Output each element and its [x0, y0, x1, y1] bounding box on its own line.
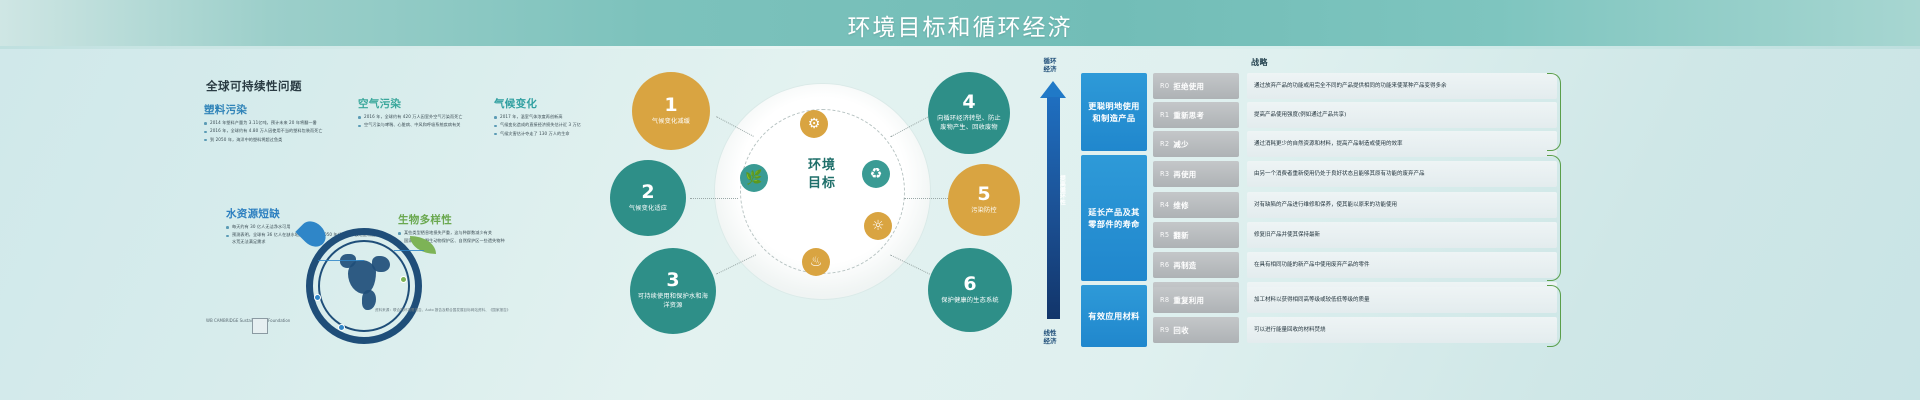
strategy-description: 由另一个消费者重新使用仍处于良好状态且能够其原有功能的废弃产品 — [1247, 161, 1557, 187]
list-item: 气候变化造成的直接经济损失估计近 3 万亿 — [494, 122, 614, 129]
issue-list-air: 2016 年，全球约有 420 万人因室外空气污染而死亡 空气污染与哮喘、心脏病… — [358, 114, 508, 129]
bubble-caption: 可持续使用和保护水和海洋资源 — [630, 293, 716, 311]
bubble-caption: 气候变化适应 — [623, 205, 673, 214]
objective-bubble-4[interactable]: 4 向循环经济转型、防止废物产生、回收废物 — [928, 72, 1010, 154]
left-panel-sustainability-issues: 全球可持续性问题 塑料污染 2014 年塑料产量为 3.11亿吨，预计未来 20… — [190, 60, 590, 350]
strategy-code-cell: R9 回收 — [1153, 317, 1239, 343]
bubble-caption: 向循环经济转型、防止废物产生、回收废物 — [928, 115, 1010, 133]
issue-block-plastic: 塑料污染 2014 年塑料产量为 3.11亿吨，预计未来 20 年将翻一番 20… — [204, 102, 354, 145]
header-divider — [0, 46, 1920, 49]
bubble-number: 1 — [664, 96, 677, 115]
strategy-description: 提高产品使用强度(例如通过产品共享) — [1247, 102, 1557, 128]
axis-label-linear-economy: 线性 经济 — [1035, 329, 1065, 345]
list-item: 2014 年塑料产量为 3.11亿吨，预计未来 20 年将翻一番 — [204, 120, 354, 127]
continent-shape — [372, 256, 390, 272]
sun-icon: ☼ — [864, 212, 892, 240]
strategy-code-cell: R4 维修 — [1153, 192, 1239, 218]
strategy-code-cell: R1 重新思考 — [1153, 102, 1239, 128]
strategy-code-cell: R6 再制造 — [1153, 252, 1239, 278]
objective-bubble-1[interactable]: 1 气候变化减缓 — [632, 72, 710, 150]
strategy-name: 拒绝使用 — [1173, 81, 1204, 92]
group-brace — [1547, 73, 1561, 151]
strategy-description: 可以进行能量回收的材料焚烧 — [1247, 317, 1557, 343]
strategy-name: 回收 — [1173, 325, 1188, 336]
right-panel-circularity-strategies: 循环 经济 提高循环性 线性 经济 战略 更聪明地使用和制造产品 延长产品及其零… — [1035, 55, 1915, 355]
list-item: 2016 年，全球约有 4.80 万人因使用不当的塑料包装而死亡 — [204, 128, 354, 135]
strategy-id: R0 — [1160, 82, 1169, 90]
left-panel-title: 全球可持续性问题 — [206, 78, 302, 94]
node-dot — [338, 324, 345, 331]
bubble-number: 4 — [962, 93, 975, 112]
issue-heading-air: 空气污染 — [358, 96, 508, 111]
water-icon: ♨ — [802, 248, 830, 276]
axis-top-line-2: 经济 — [1035, 65, 1065, 73]
strategy-name: 维修 — [1173, 200, 1188, 211]
strategy-description: 加工材料以获得相同高等级或较低低等级的质量 — [1247, 287, 1557, 313]
strategy-name: 减少 — [1173, 139, 1188, 150]
node-dot — [314, 294, 321, 301]
bubble-caption: 污染防控 — [965, 207, 1003, 216]
bubble-number: 5 — [977, 185, 990, 204]
issue-block-climate: 气候变化 2017 年，温室气体浓度再创新高 气候变化造成的直接经济损失估计近 … — [494, 96, 614, 139]
strategy-id: R6 — [1160, 261, 1169, 269]
connector-line — [394, 250, 424, 251]
strategy-id: R5 — [1160, 231, 1169, 239]
strategy-group-useful-application: 有效应用材料 — [1081, 285, 1147, 347]
center-environmental-objectives-diagram: 环境 目标 ⚙ 🌿 ♻ ☼ ♨ 1 气候变化减缓 2 气候变化适应 3 可持续使… — [610, 52, 1030, 352]
organization-logo-text: WB CAMBRIDGE Sustainability Foundation — [206, 318, 290, 324]
bubble-caption: 保护健康的生态系统 — [935, 297, 1005, 306]
column-header-strategy: 战略 — [1251, 57, 1268, 68]
issue-list-climate: 2017 年，温室气体浓度再创新高 气候变化造成的直接经济损失估计近 3 万亿 … — [494, 114, 614, 137]
strategy-group-smarter-use: 更聪明地使用和制造产品 — [1081, 73, 1147, 151]
strategy-id: R2 — [1160, 140, 1169, 148]
list-item: 2017 年，温室气体浓度再创新高 — [494, 114, 614, 121]
strategy-description: 在具有相同功能的新产品中使用废弃产品的零件 — [1247, 252, 1557, 278]
issue-heading-plastic: 塑料污染 — [204, 102, 354, 117]
page-title: 环境目标和循环经济 — [0, 8, 1920, 42]
list-item: 2016 年，全球约有 420 万人因室外空气污染而死亡 — [358, 114, 508, 121]
strategy-code-cell: R5 翻新 — [1153, 222, 1239, 248]
issue-block-air: 空气污染 2016 年，全球约有 420 万人因室外空气污染而死亡 空气污染与哮… — [358, 96, 508, 131]
axis-label-increasing-circularity: 提高循环性 — [1043, 175, 1065, 206]
list-item: 空气污染与哮喘、心脏病、中风和呼吸系统疾病有关 — [358, 122, 508, 129]
strategy-code-cell: R0 拒绝使用 — [1153, 73, 1239, 99]
group-brace — [1547, 285, 1561, 347]
strategy-name: 重复利用 — [1173, 295, 1204, 306]
connector-dotline — [904, 198, 950, 199]
bubble-caption: 气候变化减缓 — [646, 118, 696, 127]
connector-dotline — [690, 198, 738, 199]
strategy-id: R9 — [1160, 326, 1169, 334]
objective-bubble-6[interactable]: 6 保护健康的生态系统 — [928, 248, 1012, 332]
strategy-name: 翻新 — [1173, 230, 1188, 241]
node-dot — [400, 276, 407, 283]
strategy-description: 修复旧产品并使其保持最新 — [1247, 222, 1557, 248]
circularity-axis-bar — [1047, 97, 1060, 319]
axis-top-line-1: 循环 — [1035, 57, 1065, 65]
axis-bottom-line-1: 线性 — [1035, 329, 1065, 337]
gear-icon: ⚙ — [800, 110, 828, 138]
bubble-number: 6 — [963, 275, 976, 294]
axis-bottom-line-2: 经济 — [1035, 337, 1065, 345]
strategy-id: R4 — [1160, 201, 1169, 209]
strategy-name: 再制造 — [1173, 260, 1196, 271]
axis-label-circular-economy: 循环 经济 — [1035, 57, 1065, 73]
strategy-group-extend-lifespan: 延长产品及其零部件的寿命 — [1081, 155, 1147, 281]
strategy-description: 通过消耗更少的自然资源和材料，提高产品制造或使用的效率 — [1247, 131, 1557, 157]
issue-heading-water: 水资源短缺 — [226, 206, 376, 221]
strategy-id: R8 — [1160, 296, 1169, 304]
objective-bubble-2[interactable]: 2 气候变化适应 — [610, 160, 686, 236]
arrow-up-icon — [1040, 81, 1066, 98]
strategy-code-cell: R2 减少 — [1153, 131, 1239, 157]
strategy-code-cell: R8 重复利用 — [1153, 287, 1239, 313]
recycle-icon: ♻ — [862, 160, 890, 188]
connector-line — [318, 260, 364, 261]
group-brace — [1547, 155, 1561, 281]
list-item: 到 2050 年，海洋中的塑料将超过鱼类 — [204, 137, 354, 144]
infographic-page: 环境目标和循环经济 全球可持续性问题 塑料污染 2014 年塑料产量为 3.11… — [0, 0, 1920, 400]
leaf-icon: 🌿 — [740, 164, 768, 192]
strategy-id: R3 — [1160, 170, 1169, 178]
qr-code-icon — [252, 318, 268, 334]
strategy-name: 重新思考 — [1173, 110, 1204, 121]
bubble-number: 2 — [641, 183, 654, 202]
left-panel-source: 资料来源：联合国环境署报告、Auto 报告及联合国发展目标网站资料、《国家报告》 — [375, 308, 525, 313]
page-header: 环境目标和循环经济 — [0, 0, 1920, 46]
list-item: 气候灾害估计夺走了 130 万人的生命 — [494, 131, 614, 138]
strategy-description: 对有缺陷的产品进行维修和保养，使其能以原来的功能使用 — [1247, 192, 1557, 218]
strategy-id: R1 — [1160, 111, 1169, 119]
strategy-description: 通过放弃产品的功能或用完全不同的产品提供相同的功能来使某种产品变得多余 — [1247, 73, 1557, 99]
issue-heading-climate: 气候变化 — [494, 96, 614, 111]
objective-bubble-3[interactable]: 3 可持续使用和保护水和海洋资源 — [630, 248, 716, 334]
objective-bubble-5[interactable]: 5 污染防控 — [948, 164, 1020, 236]
bubble-number: 3 — [666, 271, 679, 290]
globe-illustration — [278, 220, 438, 350]
strategy-code-cell: R3 再使用 — [1153, 161, 1239, 187]
strategy-name: 再使用 — [1173, 169, 1196, 180]
issue-list-plastic: 2014 年塑料产量为 3.11亿吨，预计未来 20 年将翻一番 2016 年，… — [204, 120, 354, 143]
